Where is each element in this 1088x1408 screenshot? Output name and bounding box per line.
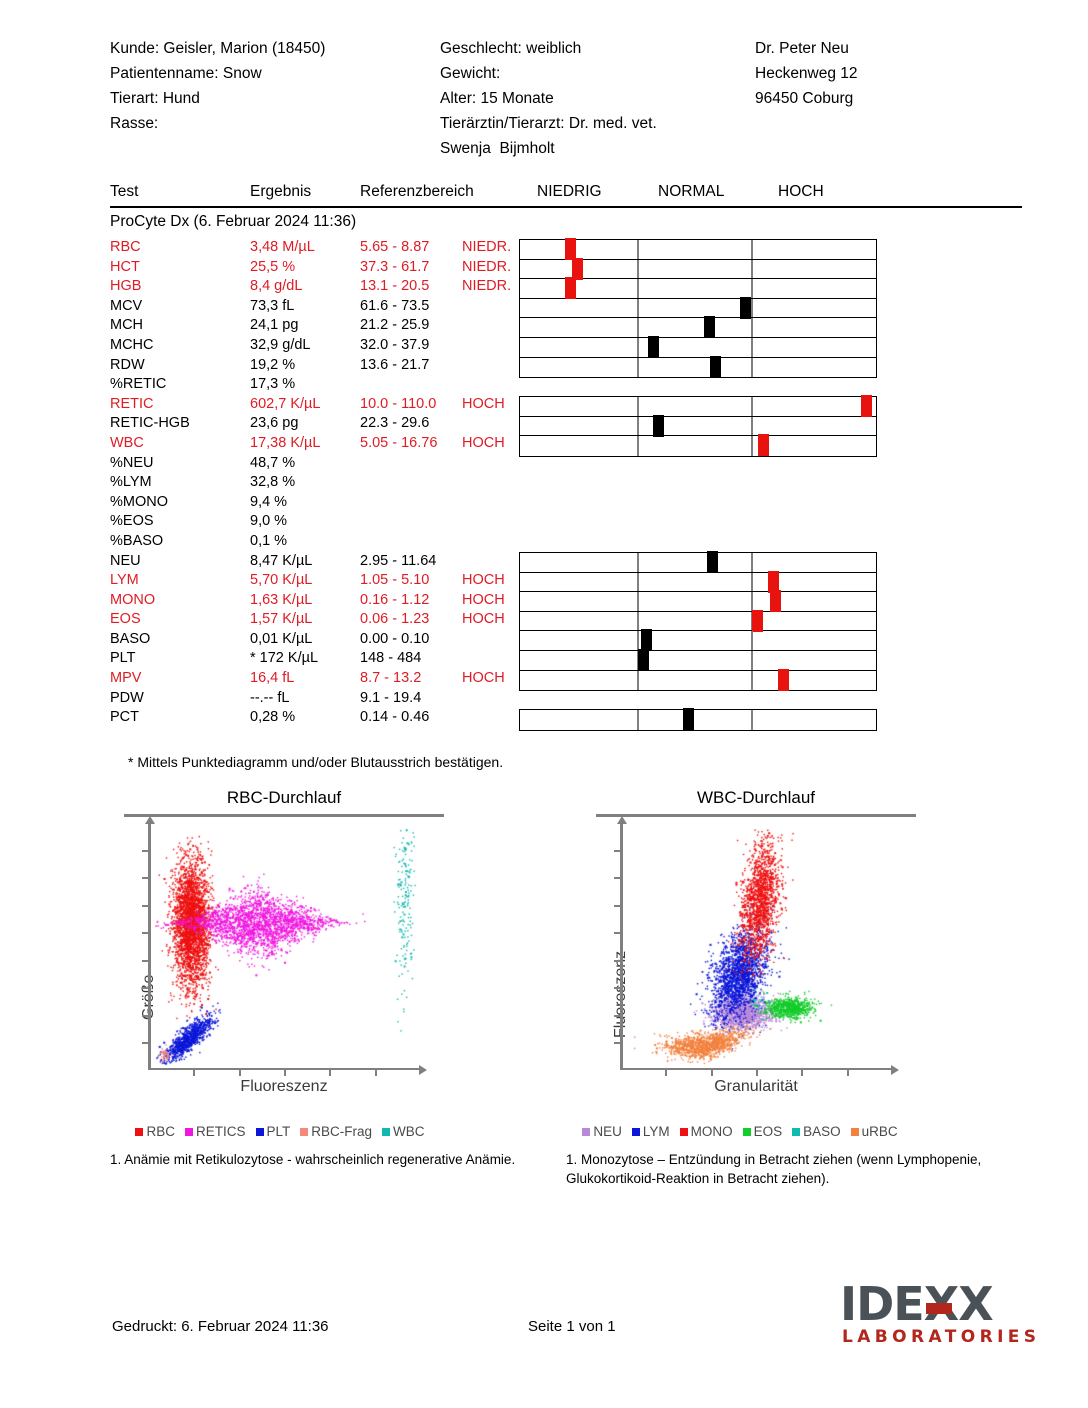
cell-flag: HOCH [462,592,505,608]
range-divider-low [637,299,639,318]
table-row: %NEU48,7 % [110,455,530,475]
table-row: %RETIC17,3 % [110,376,530,396]
cell-reference: 8.7 - 13.2 [360,670,421,686]
rbc-interpretation-comment: 1. Anämie mit Retikulozytose - wahrschei… [110,1150,530,1169]
legend-item: WBC [382,1124,425,1139]
value-marker-hgb [565,277,576,299]
range-divider-low [637,417,639,436]
cell-flag: NIEDR. [462,259,511,275]
idexx-logo-dash-icon [926,1303,952,1314]
cell-result: 32,9 g/dL [250,337,310,353]
marker-row-mcv [520,299,876,319]
table-footnote: * Mittels Punktediagramm und/oder Blutau… [128,754,503,770]
breed: Rasse: [110,111,440,136]
cell-flag: HOCH [462,435,505,451]
x-axis-tick [329,1068,331,1076]
table-row: EOS1,57 K/µL0.06 - 1.23HOCH [110,611,530,631]
table-row: PCT0,28 %0.14 - 0.46 [110,709,530,729]
column-header-test: Test [110,183,138,201]
cell-result: 3,48 M/µL [250,239,315,255]
cell-test: PDW [110,690,144,706]
marker-row-lym [520,573,876,593]
table-row: MCHC32,9 g/dL32.0 - 37.9 [110,337,530,357]
legend-item: uRBC [851,1124,898,1139]
cell-test: PCT [110,709,139,725]
range-divider-high [751,299,753,318]
x-axis-tick [665,1068,667,1076]
rbc-scatter-plot: RBC-Durchlauf Größe Fluoreszenz [124,788,444,1088]
cell-result: 23,6 pg [250,415,298,431]
wbc-plot-area [620,822,892,1070]
value-marker-pct [683,708,694,730]
value-marker-retic [861,395,872,417]
y-axis-tick [142,877,150,879]
range-divider-low [637,710,639,730]
table-row: HCT25,5 %37.3 - 61.7NIEDR. [110,259,530,279]
cell-test: NEU [110,553,141,569]
cell-flag: NIEDR. [462,239,511,255]
cell-test: HGB [110,278,141,294]
range-divider-low [637,553,639,572]
cell-result: 1,57 K/µL [250,611,312,627]
sex: Geschlecht: weiblich [440,36,750,61]
cell-test: MONO [110,592,155,608]
table-row: MONO1,63 K/µL0.16 - 1.12HOCH [110,592,530,612]
rbc-plot-title: RBC-Durchlauf [124,788,444,808]
cell-reference: 0.00 - 0.10 [360,631,429,647]
age: Alter: 15 Monate [440,86,750,111]
value-marker-rdw [710,356,721,378]
range-divider-high [751,592,753,611]
y-axis-tick [614,850,622,852]
range-divider-low [637,671,639,691]
cell-result: 19,2 % [250,357,295,373]
cell-reference: 0.16 - 1.12 [360,592,429,608]
cell-result: 8,47 K/µL [250,553,312,569]
report-page: Kunde: Geisler, Marion (18450) Patienten… [0,0,1088,1408]
legend-item: EOS [743,1124,783,1139]
cell-result: 24,1 pg [250,317,298,333]
legend-item: LYM [632,1124,670,1139]
x-axis-tick [847,1068,849,1076]
cell-test: %NEU [110,455,154,471]
legend-item: MONO [680,1124,733,1139]
range-divider-high [751,631,753,650]
y-axis-tick [142,850,150,852]
y-axis-tick [614,932,622,934]
header-column-practice: Dr. Peter Neu Heckenweg 12 96450 Coburg [755,36,1020,111]
wbc-interpretation-comment: 1. Monozytose – Entzündung in Betracht z… [566,1150,986,1188]
cell-result: 48,7 % [250,455,295,471]
cell-result: 9,0 % [250,513,287,529]
column-header-low: NIEDRIG [537,183,602,201]
cell-result: 8,4 g/dL [250,278,302,294]
cell-reference: 1.05 - 5.10 [360,572,429,588]
cell-reference: 61.6 - 73.5 [360,298,429,314]
cell-result: 0,28 % [250,709,295,725]
range-divider-low [637,612,639,631]
rbc-x-axis-arrow-icon [419,1065,427,1075]
value-marker-retic-hgb [653,415,664,437]
idexx-logo-wordmark: IDEXX [840,1277,993,1331]
y-axis-tick [142,905,150,907]
range-divider-low [637,260,639,279]
wbc-x-axis-arrow-icon [891,1065,899,1075]
legend-item: RBC [135,1124,175,1139]
marker-group-rbc-group [519,239,877,378]
range-divider-low [637,358,639,378]
wbc-scatter-canvas [620,822,892,1070]
rbc-scatter-canvas [148,822,420,1070]
marker-row-mpv [520,671,876,691]
column-header-result: Ergebnis [250,183,311,201]
cell-reference: 21.2 - 25.9 [360,317,429,333]
table-row: PDW--.-- fL9.1 - 19.4 [110,690,530,710]
cell-reference: 10.0 - 110.0 [360,396,436,412]
range-divider-low [637,338,639,357]
table-row: %MONO9,4 % [110,494,530,514]
cell-result: 0,1 % [250,533,287,549]
cell-reference: 9.1 - 19.4 [360,690,421,706]
y-axis-tick [614,1015,622,1017]
cell-flag: NIEDR. [462,278,511,294]
range-divider-low [637,279,639,298]
cell-reference: 37.3 - 61.7 [360,259,429,275]
table-row: PLT* 172 K/µL148 - 484 [110,650,530,670]
range-divider-low [637,631,639,650]
legend-label: uRBC [862,1124,898,1139]
legend-label: EOS [754,1124,783,1139]
y-axis-tick [142,932,150,934]
footer-page-number: Seite 1 von 1 [528,1318,616,1335]
range-divider-high [751,318,753,337]
marker-group-pct-group [519,709,877,731]
value-marker-mpv [778,669,789,691]
range-divider-low [637,397,639,416]
table-row: %EOS9,0 % [110,513,530,533]
cell-reference: 13.1 - 20.5 [360,278,429,294]
wbc-plot-title: WBC-Durchlauf [596,788,916,808]
cell-test: MCV [110,298,142,314]
rbc-plot-area [148,822,420,1070]
cell-reference: 22.3 - 29.6 [360,415,429,431]
value-marker-mch [704,316,715,338]
cell-result: 25,5 % [250,259,295,275]
range-divider-low [637,240,639,259]
cell-result: 602,7 K/µL [250,396,320,412]
table-row: MCV73,3 fL61.6 - 73.5 [110,298,530,318]
table-row: HGB8,4 g/dL13.1 - 20.5NIEDR. [110,278,530,298]
cell-flag: HOCH [462,396,505,412]
table-row: MPV16,4 fL8.7 - 13.2HOCH [110,670,530,690]
wbc-scatter-plot: WBC-Durchlauf Fluoreszenz Granularität [596,788,916,1088]
cell-reference: 2.95 - 11.64 [360,553,436,569]
species: Tierart: Hund [110,86,440,111]
header-column-patient: Geschlecht: weiblich Gewicht: Alter: 15 … [440,36,750,161]
cell-result: 17,38 K/µL [250,435,320,451]
rbc-plot-xlabel: Fluoreszenz [124,1078,444,1096]
idexx-logo-subtitle: LABORATORIES [842,1327,1040,1347]
value-marker-plt [638,649,649,671]
cell-reference: 13.6 - 21.7 [360,357,429,373]
range-divider-high [751,260,753,279]
range-divider-low [637,436,639,456]
footer-printed-date: Gedruckt: 6. Februar 2024 11:36 [112,1318,329,1335]
marker-row-retic [520,397,876,417]
cell-reference: 0.06 - 1.23 [360,611,429,627]
range-divider-low [637,592,639,611]
legend-label: PLT [267,1124,291,1139]
cell-test: MPV [110,670,141,686]
wbc-plot-legend: NEULYMMONOEOSBASOuRBC [560,1124,920,1139]
y-axis-tick [142,1015,150,1017]
value-marker-wbc [758,434,769,456]
range-divider-high [751,553,753,572]
legend-swatch-icon [792,1128,800,1136]
legend-swatch-icon [632,1128,640,1136]
legend-label: RBC-Frag [311,1124,372,1139]
legend-swatch-icon [382,1128,390,1136]
table-row: BASO0,01 K/µL0.00 - 0.10 [110,631,530,651]
legend-label: WBC [393,1124,425,1139]
range-divider-high [751,397,753,416]
value-marker-mono [770,590,781,612]
y-axis-tick [614,1042,622,1044]
wbc-plot-titlebar [596,814,916,817]
legend-label: LYM [643,1124,670,1139]
cell-result: 32,8 % [250,474,295,490]
range-divider-low [637,573,639,592]
marker-row-mchc [520,338,876,358]
cell-flag: HOCH [462,611,505,627]
table-row: RDW19,2 %13.6 - 21.7 [110,357,530,377]
range-divider-high [751,436,753,456]
legend-label: RETICS [196,1124,246,1139]
range-divider-low [637,318,639,337]
legend-item: BASO [792,1124,841,1139]
range-divider-high [751,338,753,357]
marker-row-neu [520,553,876,573]
marker-row-mono [520,592,876,612]
cell-test: LYM [110,572,139,588]
cell-test: HCT [110,259,140,275]
cell-test: RETIC [110,396,154,412]
cell-test: WBC [110,435,144,451]
column-header-reference: Referenzbereich [360,183,474,201]
wbc-plot-xlabel: Granularität [596,1078,916,1096]
marker-row-wbc [520,436,876,456]
legend-swatch-icon [135,1128,143,1136]
veterinarian: Tierärztin/Tierarzt: Dr. med. vet. [440,111,750,136]
range-divider-high [751,240,753,259]
x-axis-tick [375,1068,377,1076]
results-rows: RBC3,48 M/µL5.65 - 8.87NIEDR.HCT25,5 %37… [110,239,530,729]
cell-test: RBC [110,239,141,255]
x-axis-tick [756,1068,758,1076]
x-axis-tick [193,1068,195,1076]
value-marker-mchc [648,336,659,358]
range-divider-high [751,573,753,592]
table-row: %LYM32,8 % [110,474,530,494]
marker-row-retic-hgb [520,417,876,437]
legend-item: RETICS [185,1124,246,1139]
client-name: Kunde: Geisler, Marion (18450) [110,36,440,61]
column-header-normal: NORMAL [658,183,724,201]
x-axis-tick [711,1068,713,1076]
y-axis-tick [614,905,622,907]
cell-result: 5,70 K/µL [250,572,312,588]
range-divider-high [751,651,753,670]
table-row: NEU8,47 K/µL2.95 - 11.64 [110,553,530,573]
cell-test: MCHC [110,337,154,353]
cell-test: RDW [110,357,145,373]
idexx-logo: IDEXX LABORATORIES [840,1277,1030,1349]
cell-flag: HOCH [462,670,505,686]
cell-test: %BASO [110,533,163,549]
y-axis-tick [142,1042,150,1044]
cell-reference: 148 - 484 [360,650,421,666]
cell-reference: 32.0 - 37.9 [360,337,429,353]
marker-group-retic-group [519,396,877,457]
table-row: RETIC602,7 K/µL10.0 - 110.0HOCH [110,396,530,416]
cell-test: %LYM [110,474,152,490]
patient-name: Patientenname: Snow [110,61,440,86]
legend-label: NEU [593,1124,622,1139]
y-axis-tick [142,987,150,989]
cell-result: --.-- fL [250,690,289,706]
cell-result: * 172 K/µL [250,650,318,666]
x-axis-tick [284,1068,286,1076]
x-axis-tick [239,1068,241,1076]
y-axis-tick [614,877,622,879]
legend-label: MONO [691,1124,733,1139]
cell-test: %EOS [110,513,154,529]
legend-item: NEU [582,1124,622,1139]
cell-test: %RETIC [110,376,166,392]
cell-flag: HOCH [462,572,505,588]
header-rule [110,206,1022,208]
legend-item: RBC-Frag [300,1124,372,1139]
table-row: %BASO0,1 % [110,533,530,553]
cell-reference: 5.65 - 8.87 [360,239,429,255]
marker-row-eos [520,612,876,632]
range-divider-high [751,358,753,378]
cell-result: 17,3 % [250,376,295,392]
legend-swatch-icon [582,1128,590,1136]
rbc-plot-legend: RBCRETICSPLTRBC-FragWBC [110,1124,450,1139]
value-marker-mcv [740,297,751,319]
cell-result: 73,3 fL [250,298,294,314]
range-divider-high [751,279,753,298]
y-axis-tick [142,960,150,962]
legend-swatch-icon [256,1128,264,1136]
table-row: WBC17,38 K/µL5.05 - 16.76HOCH [110,435,530,455]
practice-doctor: Dr. Peter Neu [755,36,1020,61]
marker-row-hgb [520,279,876,299]
x-axis-tick [801,1068,803,1076]
value-marker-eos [752,610,763,632]
marker-group-diff-group [519,552,877,691]
legend-label: RBC [146,1124,175,1139]
table-row: RETIC-HGB23,6 pg22.3 - 29.6 [110,415,530,435]
range-divider-high [751,417,753,436]
cell-test: %MONO [110,494,168,510]
rbc-plot-titlebar [124,814,444,817]
cell-test: PLT [110,650,136,666]
value-marker-neu [707,551,718,573]
marker-row-baso [520,631,876,651]
cell-test: BASO [110,631,150,647]
marker-row-mch [520,318,876,338]
veterinarian-name: Swenja Bijmholt [440,136,750,161]
legend-swatch-icon [743,1128,751,1136]
table-row: MCH24,1 pg21.2 - 25.9 [110,317,530,337]
cell-result: 1,63 K/µL [250,592,312,608]
table-row: LYM5,70 K/µL1.05 - 5.10HOCH [110,572,530,592]
weight: Gewicht: [440,61,750,86]
cell-reference: 5.05 - 16.76 [360,435,437,451]
legend-label: BASO [803,1124,841,1139]
range-divider-high [751,671,753,691]
column-header-high: HOCH [778,183,824,201]
legend-swatch-icon [185,1128,193,1136]
practice-city: 96450 Coburg [755,86,1020,111]
legend-swatch-icon [680,1128,688,1136]
legend-swatch-icon [851,1128,859,1136]
practice-street: Heckenweg 12 [755,61,1020,86]
legend-item: PLT [256,1124,291,1139]
range-divider-high [751,710,753,730]
cell-result: 9,4 % [250,494,287,510]
marker-row-plt [520,651,876,671]
table-row: RBC3,48 M/µL5.65 - 8.87NIEDR. [110,239,530,259]
cell-test: RETIC-HGB [110,415,190,431]
y-axis-tick [614,987,622,989]
marker-row-pct [520,710,876,730]
header-column-client: Kunde: Geisler, Marion (18450) Patienten… [110,36,440,136]
y-axis-tick [614,960,622,962]
cell-result: 0,01 K/µL [250,631,312,647]
cell-result: 16,4 fL [250,670,294,686]
cell-reference: 0.14 - 0.46 [360,709,429,725]
legend-swatch-icon [300,1128,308,1136]
cell-test: MCH [110,317,143,333]
marker-row-rdw [520,358,876,378]
cell-test: EOS [110,611,141,627]
analyzer-section-title: ProCyte Dx (6. Februar 2024 11:36) [110,213,356,231]
